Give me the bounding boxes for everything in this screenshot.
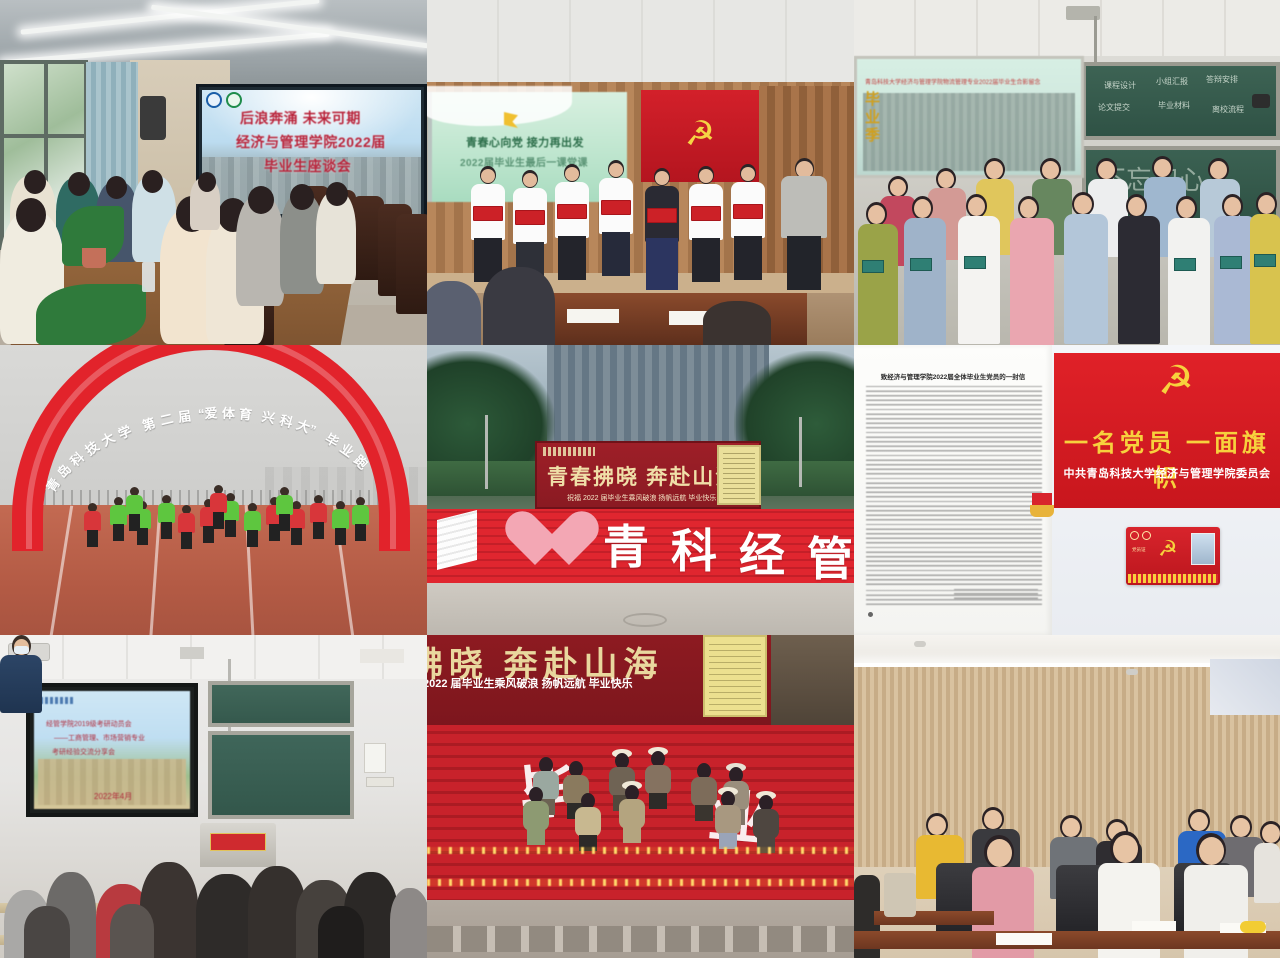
handout-paper [996, 933, 1052, 945]
university-wordmark-icon [543, 447, 595, 456]
award-card [473, 206, 503, 221]
runner [110, 497, 127, 541]
graduate-sitting [645, 751, 671, 807]
screen-vertical-title: 毕业季 [861, 91, 882, 145]
flower-pot [82, 248, 106, 268]
award-recipient [689, 166, 723, 278]
commemorative-book [1254, 254, 1276, 267]
presenter [781, 158, 827, 290]
banana [1240, 921, 1266, 933]
audience-member [24, 906, 70, 958]
page-marker [868, 612, 873, 617]
attendee-head [24, 170, 46, 194]
runner [84, 503, 101, 547]
commemorative-book [964, 256, 986, 269]
attendee-head [248, 186, 274, 214]
graduate-sitting [619, 785, 645, 841]
audience-member [427, 281, 481, 345]
security-camera-icon [1252, 94, 1270, 108]
chalkboard-upper [208, 681, 354, 727]
commemorative-book [910, 258, 932, 271]
runner [276, 487, 293, 531]
slide-line3: 考研经验交流分享会 [52, 747, 115, 757]
runner [352, 497, 369, 541]
photo-cell-exam-mobilization-lecture: 经管学院2019级考研动员会 ——工商管理、市场营销专业 考研经验交流分享会 2… [0, 635, 427, 958]
hammer-sickle-icon: ☭ [685, 117, 715, 151]
runner [332, 501, 349, 545]
wall-notice [364, 743, 386, 773]
attendee-head [106, 176, 127, 199]
runner [178, 505, 195, 549]
commemorative-book [1220, 256, 1242, 269]
screen-headline-line1: 青春心向党 接力再出发 [466, 134, 584, 150]
candle-lights [427, 847, 854, 854]
runner [210, 485, 227, 529]
open-letter-document: 致经济与管理学院2022届全体毕业生党员的一封信 [854, 345, 1052, 635]
heart-icon [505, 513, 569, 573]
plaza-ground [427, 583, 854, 635]
lectern-sign [210, 833, 266, 851]
award-card [647, 208, 677, 223]
attendee-head [68, 172, 90, 196]
party-slogan-banner: ☭ 一名党员 一面旗帜 中共青岛科技大学经济与管理学院委员会 [1054, 353, 1280, 508]
graduate-sitting [715, 791, 741, 847]
photo-cell-seminar-room [854, 635, 1280, 958]
red-carpet-steps: 青 科 经 管 [427, 509, 854, 583]
lectern [200, 823, 276, 867]
photo-collage-grid: 后浪奔涌 未来可期 经济与管理学院2022届 毕业生座谈会 [0, 0, 1280, 958]
screen-headline-line1: 后浪奔涌 未来可期 [240, 108, 361, 128]
award-card [557, 204, 587, 219]
audience-member [483, 267, 555, 345]
signature-board [717, 445, 761, 505]
commemorative-book [1174, 258, 1196, 271]
notebook [567, 309, 619, 323]
banner-subtitle: 祝福 2022 届毕业生乘风破浪 扬帆远航 毕业快乐 [567, 493, 716, 503]
ceiling [427, 0, 854, 88]
slide-date: 2022年4月 [94, 791, 132, 802]
graduate-sitting [691, 763, 717, 819]
banner-title: 青春拂晓 奔赴山海 [547, 461, 738, 491]
hammer-sickle-icon: ☭ [1158, 361, 1194, 401]
attendee-head [198, 172, 216, 192]
water-bottle [142, 262, 155, 292]
slide-line2: ——工商管理、市场营销专业 [54, 733, 145, 743]
chair [396, 214, 427, 314]
id-card-label: 党员证 [1132, 547, 1146, 553]
hammer-sickle-icon: ☭ [1158, 536, 1178, 562]
photo-cell-classroom-group-photo: 课程设计 小组汇报 答辩安排 论文提交 毕业材料 离校流程 不忘初心 青岛科技大… [854, 0, 1280, 345]
attendee-head [326, 182, 348, 206]
award-recipient [555, 164, 589, 276]
award-recipient [731, 164, 765, 276]
desk [854, 931, 1280, 949]
ceiling-downlight [914, 641, 926, 647]
audience-member [110, 904, 154, 958]
letter-title: 致经济与管理学院2022届全体毕业生党员的一封信 [868, 371, 1038, 381]
candle-lights [427, 879, 854, 886]
college-logo-icon [1142, 531, 1151, 540]
street-lamp [799, 417, 802, 487]
attendee-head [16, 198, 46, 232]
wall-speaker [140, 96, 166, 140]
handout-paper [1132, 921, 1176, 931]
banner-organization: 中共青岛科技大学经济与管理学院委员会 [1054, 465, 1280, 481]
graduate-sitting [753, 795, 779, 851]
face-mask [14, 646, 29, 654]
ceiling-downlight [1126, 669, 1138, 675]
award-recipient [599, 160, 633, 272]
university-logo-icon [40, 697, 74, 704]
university-logo-icon [206, 92, 222, 108]
attendee-head [290, 184, 314, 210]
photo-cell-party-lesson-award: 青春心向党 接力再出发 2022届毕业生最后一课党课 ☭ [427, 0, 854, 345]
award-card [515, 210, 545, 225]
ceiling-corner [1210, 659, 1280, 715]
chalkboard-lower [208, 731, 354, 819]
ceiling-light [360, 649, 404, 663]
handbag [884, 873, 916, 917]
audience-member [318, 906, 364, 958]
college-logo-icon [226, 92, 242, 108]
potted-plant [36, 284, 146, 345]
award-card [601, 200, 631, 215]
graduate-sitting [575, 793, 601, 849]
runner [126, 487, 143, 531]
photo-cell-graduation-run: 青 岛 科 技 大 学 第 二 届 “爱 体 育 兴 科 大” 毕 业 跑 [0, 345, 427, 635]
letter-signature-block [954, 589, 1038, 599]
runner [158, 495, 175, 539]
signature-board [703, 635, 767, 717]
screen-headline-line2: 经济与管理学院2022届 [236, 132, 386, 152]
award-recipient [513, 170, 547, 282]
photo-cell-night-steps-graduates: 拂晓 奔赴山海 2022 届毕业生乘风破浪 扬帆远航 毕业快乐 毕 业 [427, 635, 854, 958]
drainage-grate [427, 926, 854, 952]
photo-cell-party-letter-banner: 致经济与管理学院2022届全体毕业生党员的一封信 ☭ 一名党员 一面旗帜 中共青… [854, 345, 1280, 635]
projection-screen: 经管学院2019级考研动员会 ——工商管理、市场营销专业 考研经验交流分享会 2… [26, 683, 198, 817]
audience-member [703, 301, 771, 345]
screen-headline-line3: 毕业生座谈会 [264, 156, 351, 176]
ceiling-light [180, 647, 204, 659]
attendee-head [142, 170, 163, 193]
ceiling-rod [1094, 16, 1097, 62]
photo-cell-campus-red-steps: 青春拂晓 奔赴山海 祝福 2022 届毕业生乘风破浪 扬帆远航 毕业快乐 青 科… [427, 345, 854, 635]
id-photo [1191, 533, 1215, 565]
wall-plaque [366, 777, 394, 787]
audience-member [390, 888, 427, 958]
university-logo-icon [1130, 531, 1139, 540]
chalkboard-upper: 课程设计 小组汇报 答辩安排 论文提交 毕业材料 离校流程 [1082, 62, 1280, 140]
letter-body-text [866, 385, 1042, 585]
award-card [733, 204, 763, 219]
slide-line1: 经管学院2019级考研动员会 [46, 719, 132, 729]
id-card-decor-band [1128, 574, 1218, 583]
commemorative-book [862, 260, 884, 273]
party-flag-pin-base [1030, 505, 1054, 517]
graduate-sitting [523, 787, 549, 843]
street-lamp [485, 415, 488, 489]
award-recipient [471, 166, 505, 278]
background-wall [771, 635, 854, 731]
award-recipient [645, 168, 679, 280]
white-stair-graphic [437, 510, 477, 570]
banner-slogan: 一名党员 一面旗帜 [1054, 423, 1280, 493]
photo-cell-graduate-symposium: 后浪奔涌 未来可期 经济与管理学院2022届 毕业生座谈会 [0, 0, 427, 345]
banner-subtitle: 2022 届毕业生乘风破浪 扬帆远航 毕业快乐 [427, 675, 633, 691]
runner [310, 495, 327, 539]
screen-headline: 青岛科技大学经济与管理学院物流管理专业2022届毕业生合影留念 [865, 77, 1040, 86]
party-member-id-card: ☭ 党员证 [1126, 527, 1220, 585]
runner [244, 503, 261, 547]
award-card [691, 206, 721, 221]
